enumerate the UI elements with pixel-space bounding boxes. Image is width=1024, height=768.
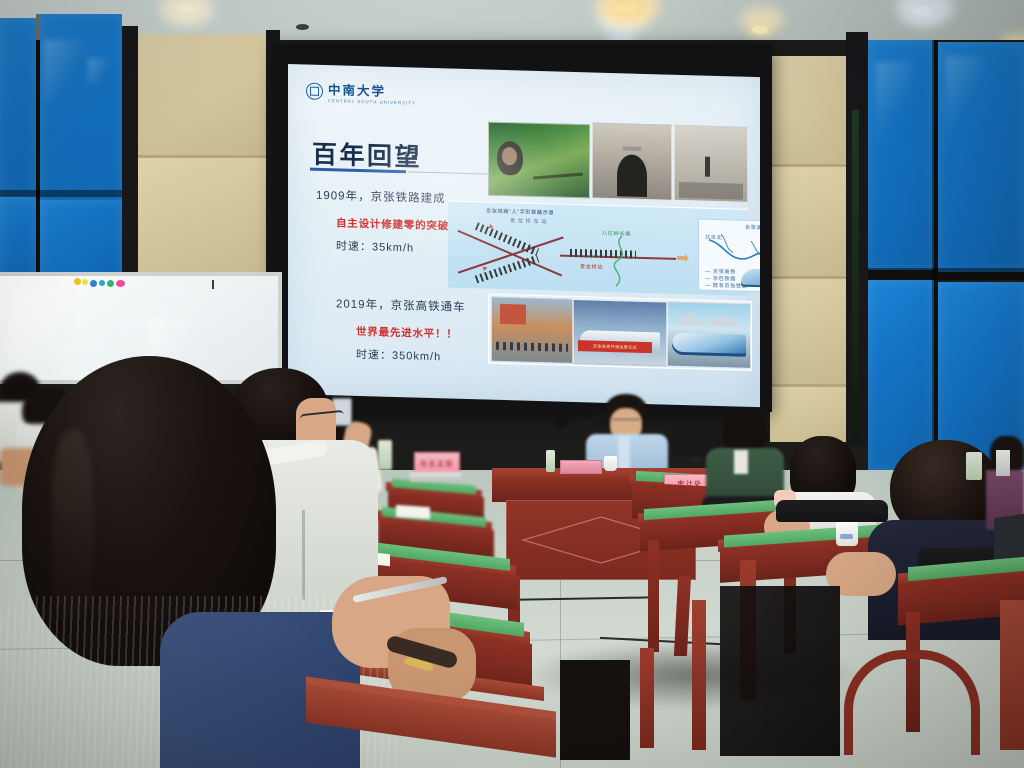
chair-leg xyxy=(692,600,706,750)
monitor-stand xyxy=(690,456,702,462)
shirt-seam xyxy=(302,510,305,600)
downlight-off xyxy=(296,24,309,30)
panel-seam xyxy=(770,384,848,387)
downlight xyxy=(178,4,195,13)
railway-diagram-band: 京张铁路“人”字形铁路示意 青 龙 桥 车 站 ➤ ➤ 青龙桥站 八达岭长城 ➡ xyxy=(448,200,748,295)
downlight xyxy=(614,2,638,14)
university-logo: 中南大学 CENTRAL SOUTH UNIVERSITY xyxy=(306,79,416,106)
wall-panel-beige xyxy=(770,278,848,386)
direction-arrow-icon: ➤ xyxy=(481,264,489,273)
whiteboard-magnet[interactable] xyxy=(90,280,97,287)
cup-logo xyxy=(840,534,853,539)
diagram-caption: 京张铁路“人”字形铁路示意 xyxy=(486,208,554,217)
wall-panel-beige xyxy=(138,158,270,284)
badaling-tunnel-photo xyxy=(592,122,672,200)
chair-shadow-mass xyxy=(560,660,630,760)
wall-panel-beige xyxy=(770,386,848,442)
panel-seam xyxy=(868,268,1024,280)
panel-seam xyxy=(138,155,270,158)
diagram-subcaption: 青 龙 桥 车 站 xyxy=(510,217,547,225)
chair-shadow-mass xyxy=(720,586,840,756)
chair-leg xyxy=(640,648,654,748)
fuxing-train-mountains-photo xyxy=(667,302,751,369)
panel-seam xyxy=(932,40,938,470)
whiteboard-magnet[interactable] xyxy=(107,280,114,287)
wall-plant-sliver xyxy=(852,110,859,440)
wall-trim xyxy=(122,26,138,288)
whiteboard-marker[interactable] xyxy=(212,280,214,289)
block2-year-line: 2019年，京张高铁通车 xyxy=(336,295,466,315)
wall-panel-beige xyxy=(770,56,848,166)
presentation-slide: 中南大学 CENTRAL SOUTH UNIVERSITY 百年回望 1909年… xyxy=(288,64,760,407)
right-arrow-icon: ➡ xyxy=(676,248,689,268)
panel-seam xyxy=(0,190,124,197)
whiteboard-magnet[interactable] xyxy=(99,280,105,286)
panel-gloss xyxy=(946,56,986,136)
conference-room-photo: 中南大学 CENTRAL SOUTH UNIVERSITY 百年回望 1909年… xyxy=(0,0,1024,768)
panel-seam xyxy=(770,164,848,167)
paper-cup xyxy=(604,456,617,471)
historic-railway-workers-photo xyxy=(674,125,748,203)
university-name-en: CENTRAL SOUTH UNIVERSITY xyxy=(328,98,416,105)
panel-gloss xyxy=(88,58,118,84)
panel-seam xyxy=(36,14,40,286)
head-table-placard-blank xyxy=(560,460,602,474)
great-wall-path-icon xyxy=(596,234,642,291)
tea-jar xyxy=(378,440,392,470)
water-bottle xyxy=(996,450,1010,476)
track-laying-machine-photo xyxy=(491,297,573,364)
desk-leg xyxy=(648,540,659,652)
whiteboard-magnet[interactable] xyxy=(74,278,81,285)
opening-ceremony-banner-photo: 京张高铁开通运营仪式 xyxy=(573,299,667,367)
downlight xyxy=(912,6,932,16)
polo-placket xyxy=(734,450,748,474)
wall-panel-blue xyxy=(868,280,934,470)
block1-speed: 时速：35km/h xyxy=(336,237,414,255)
chair-frame xyxy=(844,650,980,755)
projection-screen: 中南大学 CENTRAL SOUTH UNIVERSITY 百年回望 1909年… xyxy=(288,64,760,407)
microphone-head xyxy=(556,416,567,427)
placard-stand xyxy=(410,472,462,482)
audience-head xyxy=(722,414,768,452)
chair-back xyxy=(776,500,888,522)
whiteboard-magnet[interactable] xyxy=(116,280,125,287)
high-speed-rail-map-card: 京张高铁线路图 北京北 张家口 — 京张高铁 — 京包铁路 — 既有京张铁路 xyxy=(698,218,760,293)
wall-panel-beige xyxy=(138,34,270,156)
zhan-tianyou-portrait-photo xyxy=(488,122,590,199)
ceremony-banner-text: 京张高铁开通运营仪式 xyxy=(578,340,652,353)
block2-highlight: 世界最先进水平！！ xyxy=(356,324,458,342)
water-bottle xyxy=(546,450,555,472)
desk-side-panel xyxy=(1000,600,1024,750)
photo-strip: 京张高铁开通运营仪式 xyxy=(488,294,752,371)
water-bottle xyxy=(966,452,982,480)
whiteboard-magnet[interactable] xyxy=(82,279,88,285)
notebook xyxy=(396,505,430,519)
block1-highlight: 自主设计修建零的突破！ xyxy=(336,215,460,233)
block1-year-line: 1909年，京张铁路建成 xyxy=(316,187,446,207)
university-seal-icon xyxy=(306,82,323,99)
wall-panel-beige xyxy=(770,166,848,278)
block2-speed: 时速：350km/h xyxy=(356,346,441,364)
panel-gloss xyxy=(876,62,912,152)
university-name-cn: 中南大学 xyxy=(328,79,416,100)
presenter-glasses xyxy=(611,419,641,425)
downlight xyxy=(752,26,768,34)
panel-seam xyxy=(770,276,848,279)
panel-gloss xyxy=(44,40,92,100)
